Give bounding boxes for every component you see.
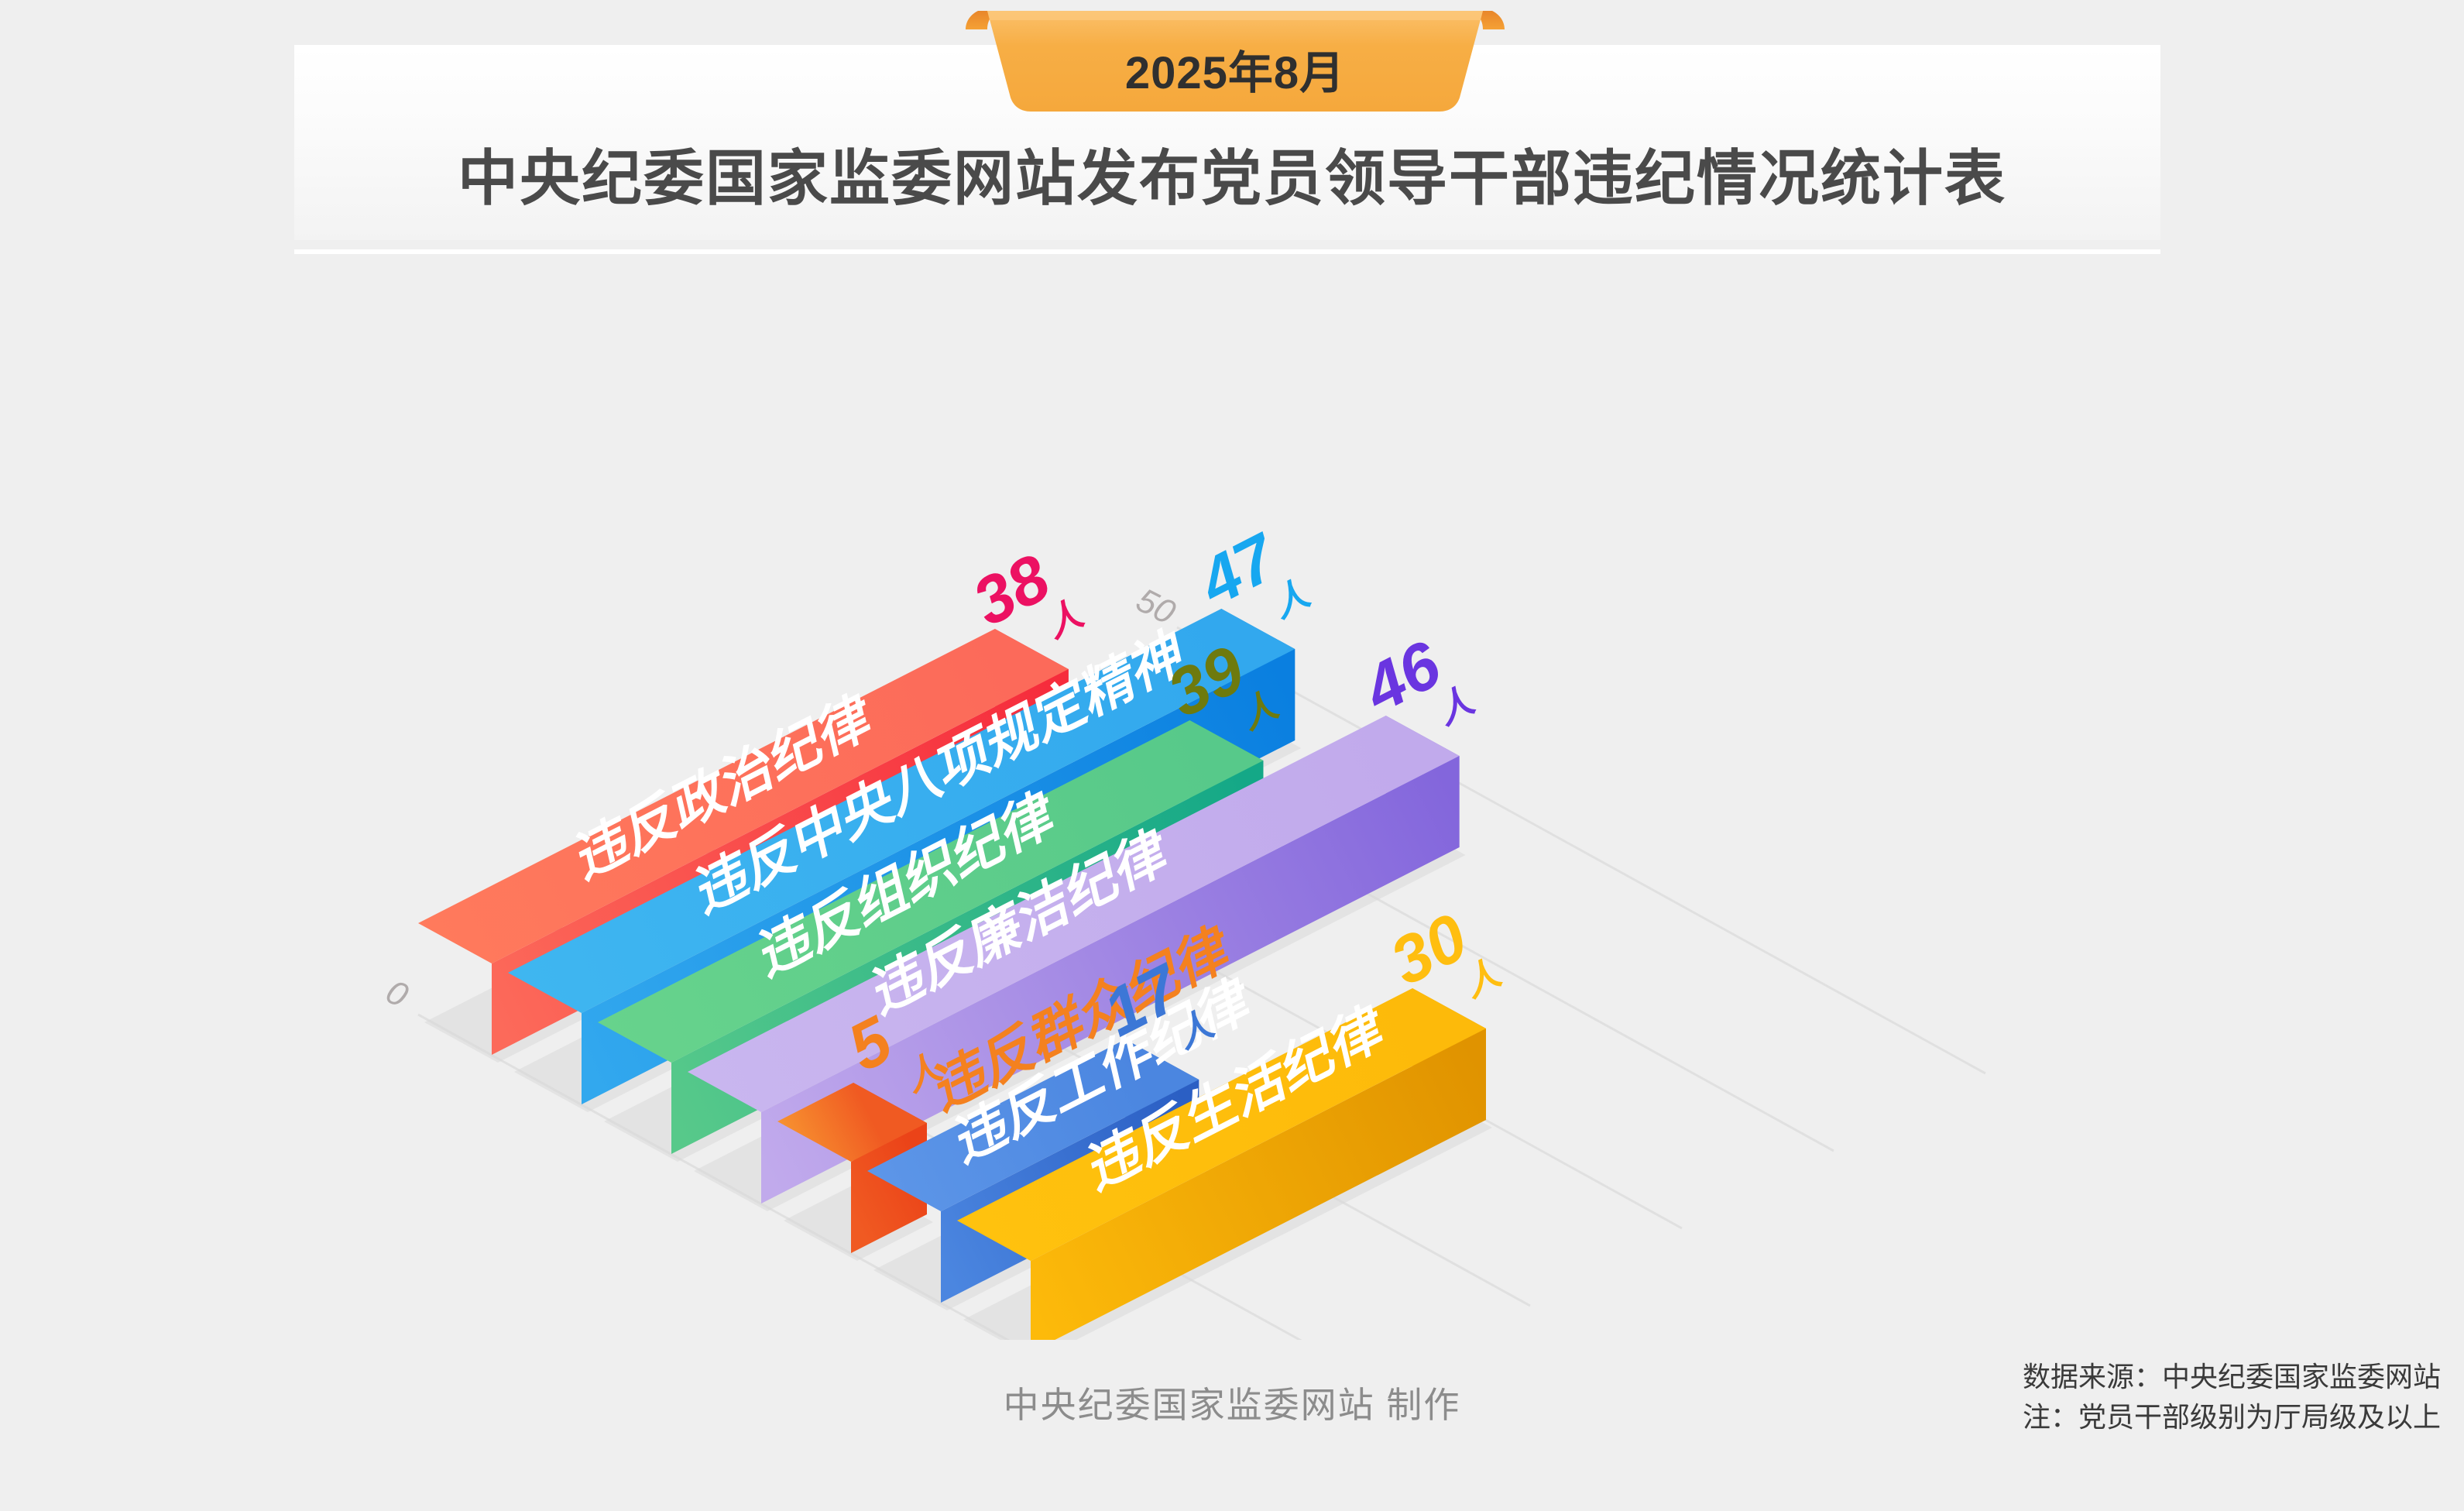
scope-note: 注：党员干部级别为厅局级及以上 [2023,1397,2441,1437]
ribbon-date-label: 2025年8月 [964,6,1506,115]
axis-tick-label: 0 [380,973,415,1015]
data-source-note: 数据来源：中央纪委国家监委网站 [2023,1357,2441,1397]
chart-canvas: 01020304050违反政治纪律38人违反中央八项规定精神47人违反组织纪律3… [0,232,2464,1340]
footer-notes: 数据来源：中央纪委国家监委网站 注：党员干部级别为厅局级及以上 [2023,1357,2441,1437]
date-ribbon: 2025年8月 [964,6,1506,115]
infographic-page: 2025年8月 中央纪委国家监委网站发布党员领导干部违纪情况统计表 010203… [0,0,2464,1511]
axis-tick-label: 50 [1131,581,1182,632]
isometric-bar-chart: 01020304050违反政治纪律38人违反中央八项规定精神47人违反组织纪律3… [0,232,2464,1340]
page-title: 中央纪委国家监委网站发布党员领导干部违纪情况统计表 [0,130,2464,217]
